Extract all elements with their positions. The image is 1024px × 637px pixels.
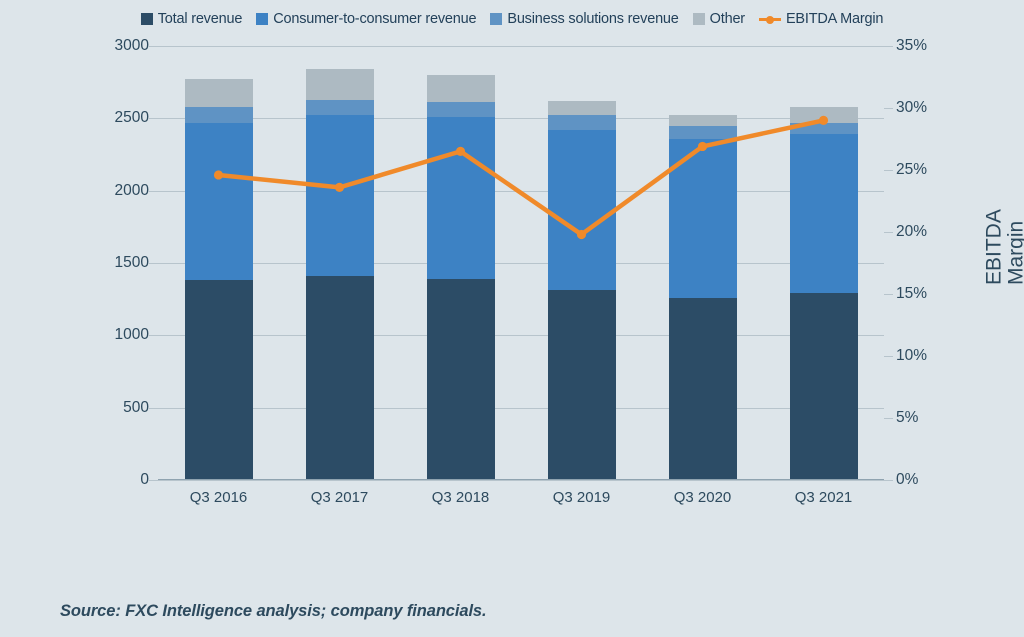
bar-group[interactable] — [790, 46, 858, 480]
legend-item-label: Total revenue — [158, 11, 242, 27]
chart-legend: Total revenueConsumer-to-consumer revenu… — [0, 11, 1024, 27]
left-axis-tick-label: 3000 — [115, 37, 149, 55]
source-note: Source: FXC Intelligence analysis; compa… — [60, 602, 487, 621]
bar-segment[interactable] — [669, 115, 737, 125]
gridline — [158, 480, 884, 481]
bar-segment[interactable] — [790, 134, 858, 293]
legend-item-label: EBITDA Margin — [786, 11, 883, 27]
chart-container: Total revenueConsumer-to-consumer revenu… — [0, 0, 1024, 637]
right-tick-mark — [884, 170, 893, 171]
y-axis-title-right: EBITDA Margin — [983, 255, 1024, 285]
bar-segment[interactable] — [427, 75, 495, 102]
x-axis-tick-label: Q3 2019 — [553, 489, 611, 506]
legend-item[interactable]: Consumer-to-consumer revenue — [256, 11, 476, 27]
left-axis-tick-label: 0 — [140, 471, 149, 489]
left-tick-mark — [149, 191, 158, 192]
left-tick-mark — [149, 118, 158, 119]
x-axis-tick-label: Q3 2017 — [311, 489, 369, 506]
left-axis-tick-label: 1500 — [115, 254, 149, 272]
bar-segment[interactable] — [790, 293, 858, 480]
bar-segment[interactable] — [306, 69, 374, 99]
bar-segment[interactable] — [185, 280, 253, 480]
right-tick-mark — [884, 480, 893, 481]
right-axis-tick-label: 5% — [896, 409, 918, 427]
bar-segment[interactable] — [185, 123, 253, 280]
x-axis-tick-label: Q3 2020 — [674, 489, 732, 506]
right-axis-tick-label: 0% — [896, 471, 918, 489]
legend-item-label: Business solutions revenue — [507, 11, 678, 27]
legend-item-label: Consumer-to-consumer revenue — [273, 11, 476, 27]
right-axis-tick-label: 15% — [896, 285, 927, 303]
bar-segment[interactable] — [427, 117, 495, 279]
left-tick-mark — [149, 335, 158, 336]
bar-segment[interactable] — [306, 115, 374, 276]
bar-group[interactable] — [548, 46, 616, 480]
bar-segment[interactable] — [548, 101, 616, 115]
right-tick-mark — [884, 232, 893, 233]
bar-segment[interactable] — [669, 298, 737, 480]
line-marker-icon — [759, 13, 781, 25]
legend-item[interactable]: Total revenue — [141, 11, 242, 27]
legend-item-label: Other — [710, 11, 745, 27]
bar-series-group — [158, 46, 884, 480]
left-tick-mark — [149, 46, 158, 47]
bar-segment[interactable] — [306, 276, 374, 480]
right-axis-tick-label: 20% — [896, 223, 927, 241]
left-axis-tick-label: 2000 — [115, 182, 149, 200]
right-axis-tick-label: 35% — [896, 37, 927, 55]
bar-segment[interactable] — [548, 290, 616, 480]
legend-item[interactable]: Business solutions revenue — [490, 11, 678, 27]
bar-segment[interactable] — [669, 126, 737, 139]
left-axis-tick-label: 1000 — [115, 326, 149, 344]
plot-area: 050010001500200025003000 0%5%10%15%20%25… — [158, 46, 884, 480]
left-tick-mark — [149, 408, 158, 409]
right-axis-tick-label: 10% — [896, 347, 927, 365]
right-axis-tick-label: 25% — [896, 161, 927, 179]
left-axis-tick-label: 2500 — [115, 109, 149, 127]
legend-swatch-icon — [693, 13, 705, 25]
bar-group[interactable] — [306, 46, 374, 480]
x-axis-tick-label: Q3 2021 — [795, 489, 853, 506]
right-axis-tick-label: 30% — [896, 99, 927, 117]
right-tick-mark — [884, 356, 893, 357]
right-tick-mark — [884, 418, 893, 419]
bar-group[interactable] — [427, 46, 495, 480]
right-tick-mark — [884, 46, 893, 47]
left-tick-mark — [149, 480, 158, 481]
legend-item[interactable]: Other — [693, 11, 745, 27]
right-tick-mark — [884, 294, 893, 295]
x-axis-tick-label: Q3 2018 — [432, 489, 490, 506]
bar-group[interactable] — [669, 46, 737, 480]
legend-swatch-icon — [256, 13, 268, 25]
bar-segment[interactable] — [790, 123, 858, 135]
left-axis-tick-label: 500 — [123, 399, 149, 417]
bar-segment[interactable] — [548, 115, 616, 129]
bar-segment[interactable] — [185, 107, 253, 124]
bar-segment[interactable] — [427, 102, 495, 116]
right-tick-mark — [884, 108, 893, 109]
bar-segment[interactable] — [669, 139, 737, 298]
bar-segment[interactable] — [548, 130, 616, 290]
bar-segment[interactable] — [427, 279, 495, 480]
x-axis-tick-label: Q3 2016 — [190, 489, 248, 506]
bar-segment[interactable] — [185, 79, 253, 107]
bar-group[interactable] — [185, 46, 253, 480]
legend-swatch-icon — [141, 13, 153, 25]
bar-segment[interactable] — [790, 107, 858, 123]
left-tick-mark — [149, 263, 158, 264]
x-axis-baseline — [158, 479, 884, 480]
bar-segment[interactable] — [306, 100, 374, 116]
legend-swatch-icon — [490, 13, 502, 25]
legend-item[interactable]: EBITDA Margin — [759, 11, 883, 27]
